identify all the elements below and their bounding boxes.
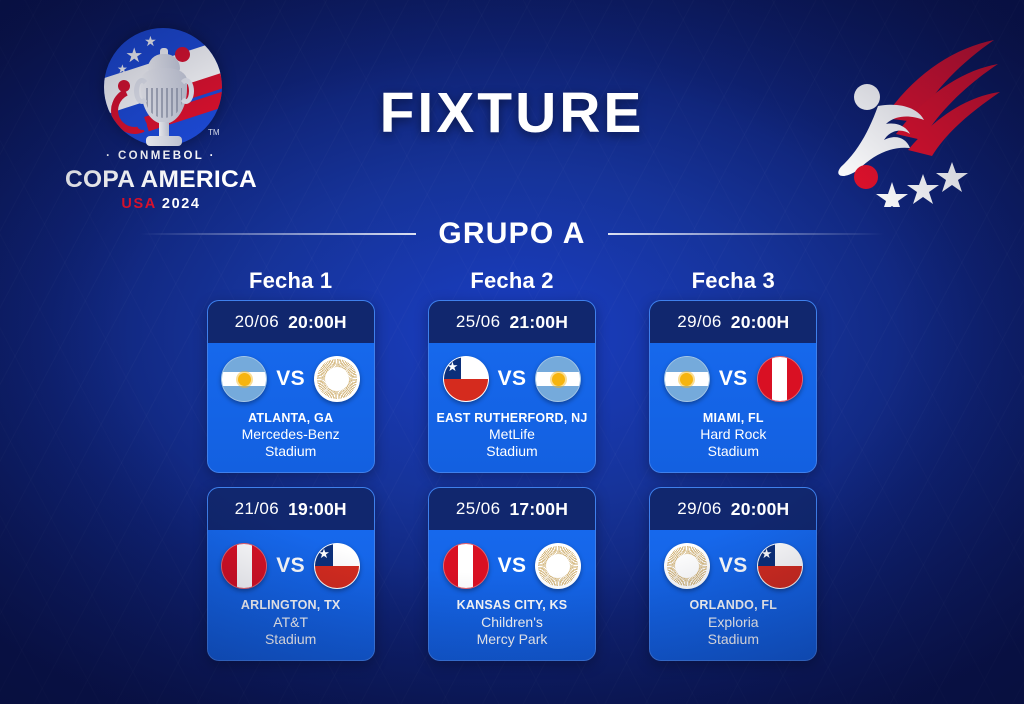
venue-city: KANSAS CITY, KS [435,598,589,613]
match-time: 20:00H [731,499,790,520]
matchday-header-row: Fecha 1 Fecha 2 Fecha 3 [180,268,844,294]
match-card-row: 20/0620:00HVSATLANTA, GAMercedes-BenzSta… [180,300,844,473]
match-card-body: VS★ARLINGTON, TXAT&TStadium [208,530,374,659]
match-venue: KANSAS CITY, KSChildren'sMercy Park [435,598,589,647]
match-datetime-bar: 21/0619:00H [208,488,374,530]
poster-canvas: ★ ★ ★ TM · CONMEBOL · COPA AMERICA USA 2… [0,0,1024,704]
group-divider: GRUPO A [140,212,884,256]
match-date: 29/06 [677,312,722,332]
venue-name-line-1: MetLife [435,426,589,443]
venue-name-line-1: Hard Rock [656,426,810,443]
match-date: 29/06 [677,499,722,519]
venue-name-line-1: AT&T [214,614,368,631]
match-card-body: VSKANSAS CITY, KSChildren'sMercy Park [429,530,595,659]
match-venue: ATLANTA, GAMercedes-BenzStadium [214,411,368,460]
match-date: 25/06 [456,499,501,519]
match-teams: VS★ [214,542,368,590]
versus-label: VS [719,367,748,391]
flag-badge-canada [314,356,360,402]
venue-name-line-2: Stadium [214,631,368,648]
match-card-body: VS★ORLANDO, FLExploriaStadium [650,530,816,659]
match-datetime-bar: 25/0617:00H [429,488,595,530]
match-datetime-bar: 29/0620:00H [650,301,816,343]
venue-name-line-1: Exploria [656,614,810,631]
venue-name-line-1: Children's [435,614,589,631]
match-card[interactable]: 25/0621:00H★VSEAST RUTHERFORD, NJMetLife… [428,300,596,473]
match-teams: VS [656,355,810,403]
copa-america-wordmark: COPA AMERICA [56,166,266,194]
venue-name-line-1: Mercedes-Benz [214,426,368,443]
match-datetime-bar: 29/0620:00H [650,488,816,530]
match-card-body: VSMIAMI, FLHard RockStadium [650,343,816,472]
versus-label: VS [498,367,527,391]
matchday-header-2: Fecha 2 [401,268,622,294]
flag-badge-chile: ★ [757,543,803,589]
venue-city: ORLANDO, FL [656,598,810,613]
flag-badge-argentina [535,356,581,402]
match-datetime-bar: 20/0620:00H [208,301,374,343]
match-venue: ARLINGTON, TXAT&TStadium [214,598,368,647]
match-venue: MIAMI, FLHard RockStadium [656,411,810,460]
match-date: 25/06 [456,312,501,332]
edition-year-label: 2024 [162,196,201,212]
flag-badge-peru [757,356,803,402]
conmebol-label: · CONMEBOL · [56,150,266,162]
match-card-slot: 20/0620:00HVSATLANTA, GAMercedes-BenzSta… [180,300,401,473]
match-card-slot: 25/0621:00H★VSEAST RUTHERFORD, NJMetLife… [401,300,622,473]
match-card[interactable]: 21/0619:00HVS★ARLINGTON, TXAT&TStadium [207,487,375,660]
match-time: 21:00H [509,312,568,333]
match-card-grid: 20/0620:00HVSATLANTA, GAMercedes-BenzSta… [180,300,844,661]
venue-city: EAST RUTHERFORD, NJ [435,411,589,426]
match-time: 19:00H [288,499,347,520]
venue-city: ARLINGTON, TX [214,598,368,613]
copa-host-year: USA 2024 [56,196,266,212]
match-time: 20:00H [288,312,347,333]
versus-label: VS [276,367,305,391]
match-date: 21/06 [235,499,280,519]
versus-label: VS [719,554,748,578]
match-card-body: VSATLANTA, GAMercedes-BenzStadium [208,343,374,472]
match-time: 20:00H [731,312,790,333]
host-country-label: USA [121,196,156,212]
match-card-slot: 21/0619:00HVS★ARLINGTON, TXAT&TStadium [180,487,401,660]
match-card-row: 21/0619:00HVS★ARLINGTON, TXAT&TStadium25… [180,487,844,660]
venue-name-line-2: Stadium [435,443,589,460]
flag-badge-canada [664,543,710,589]
versus-label: VS [276,554,305,578]
venue-name-line-2: Stadium [214,443,368,460]
match-card[interactable]: 29/0620:00HVS★ORLANDO, FLExploriaStadium [649,487,817,660]
flag-badge-peru [443,543,489,589]
venue-name-line-2: Stadium [656,631,810,648]
match-teams: VS [214,355,368,403]
match-card[interactable]: 25/0617:00HVSKANSAS CITY, KSChildren'sMe… [428,487,596,660]
page-title: FIXTURE [0,80,1024,146]
group-label: GRUPO A [438,217,585,251]
flag-badge-chile: ★ [443,356,489,402]
match-card-slot: 29/0620:00HVSMIAMI, FLHard RockStadium [623,300,844,473]
flag-badge-peru [221,543,267,589]
match-teams: ★VS [435,355,589,403]
matchday-header-3: Fecha 3 [623,268,844,294]
match-card-body: ★VSEAST RUTHERFORD, NJMetLifeStadium [429,343,595,472]
divider-line-left [140,233,416,235]
match-card-slot: 29/0620:00HVS★ORLANDO, FLExploriaStadium [623,487,844,660]
match-card[interactable]: 29/0620:00HVSMIAMI, FLHard RockStadium [649,300,817,473]
match-time: 17:00H [509,499,568,520]
match-card-slot: 25/0617:00HVSKANSAS CITY, KSChildren'sMe… [401,487,622,660]
venue-name-line-2: Mercy Park [435,631,589,648]
flag-badge-canada [535,543,581,589]
match-datetime-bar: 25/0621:00H [429,301,595,343]
flag-badge-chile: ★ [314,543,360,589]
match-venue: EAST RUTHERFORD, NJMetLifeStadium [435,411,589,460]
venue-name-line-2: Stadium [656,443,810,460]
match-card[interactable]: 20/0620:00HVSATLANTA, GAMercedes-BenzSta… [207,300,375,473]
match-teams: VS [435,542,589,590]
flag-badge-argentina [221,356,267,402]
divider-line-right [608,233,884,235]
match-venue: ORLANDO, FLExploriaStadium [656,598,810,647]
versus-label: VS [498,554,527,578]
match-teams: VS★ [656,542,810,590]
matchday-header-1: Fecha 1 [180,268,401,294]
venue-city: MIAMI, FL [656,411,810,426]
flag-badge-argentina [664,356,710,402]
venue-city: ATLANTA, GA [214,411,368,426]
match-date: 20/06 [235,312,280,332]
